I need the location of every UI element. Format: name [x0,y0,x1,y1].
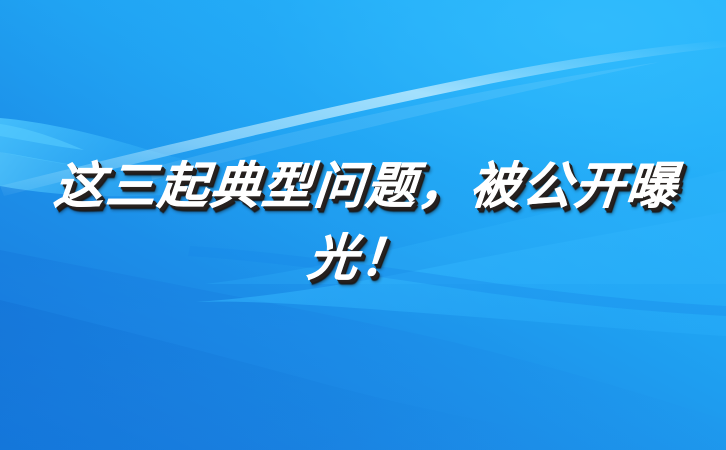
promo-banner: 这三起典型问题，被公开曝光！ [0,0,726,450]
banner-headline: 这三起典型问题，被公开曝光！ [0,150,726,294]
